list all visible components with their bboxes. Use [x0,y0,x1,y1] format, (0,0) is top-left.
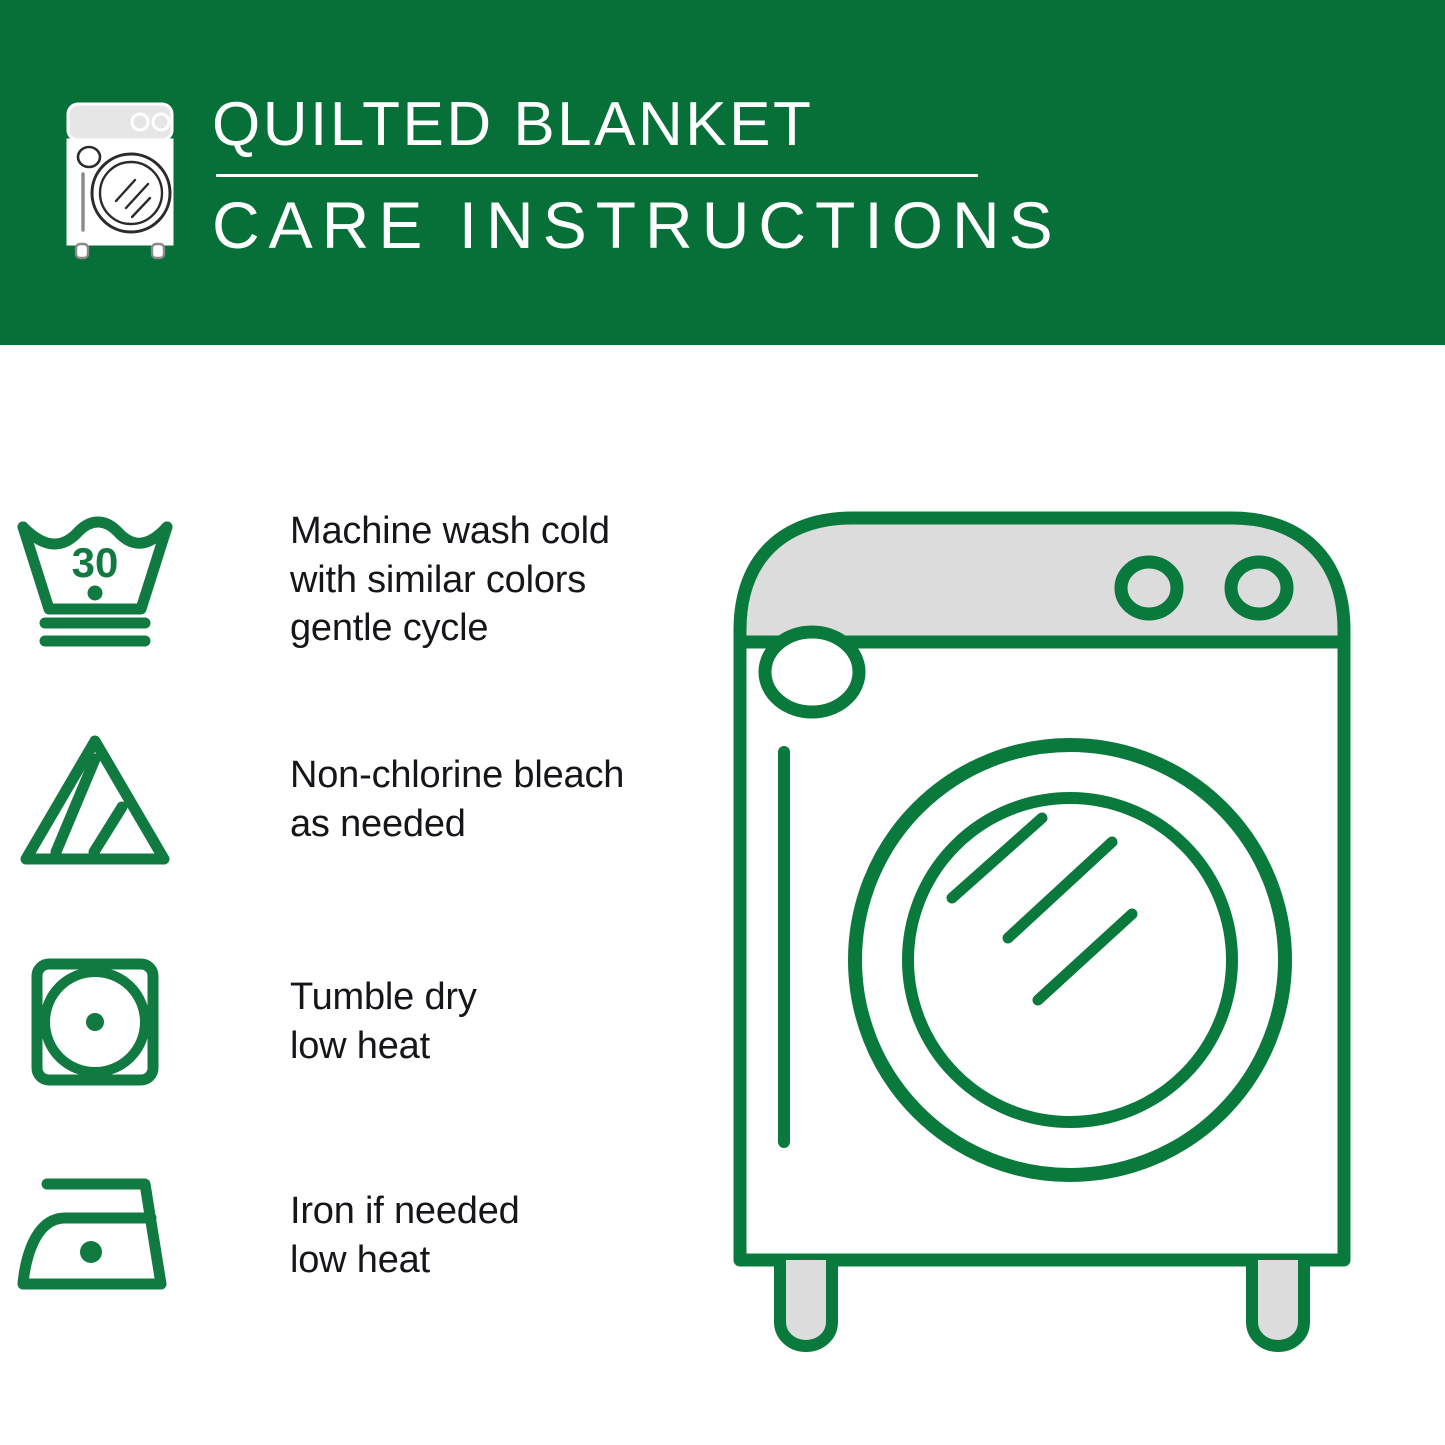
care-text-line: Machine wash cold [290,507,610,556]
care-text-line: as needed [290,800,624,849]
washing-machine-illustration [712,470,1372,1370]
care-text-line: low heat [290,1022,477,1071]
header-banner: QUILTED BLANKET CARE INSTRUCTIONS [0,0,1445,345]
care-row-iron: Iron if needed low heat [0,1146,700,1326]
care-text-bleach: Non-chlorine bleach as needed [290,751,624,848]
care-row-bleach: Non-chlorine bleach as needed [0,710,700,890]
non-chlorine-bleach-triangle-icon [0,725,190,875]
care-text-line: Non-chlorine bleach [290,751,624,800]
care-text-line: Tumble dry [290,973,477,1022]
page-title-line-1: QUILTED BLANKET [212,92,813,157]
care-text-machine-wash: Machine wash cold with similar colors ge… [290,507,610,653]
care-text-line: gentle cycle [290,604,610,653]
washing-machine-icon [62,100,188,260]
care-text-line: low heat [290,1236,520,1285]
care-row-tumble-dry: Tumble dry low heat [0,932,700,1112]
title-divider [216,174,978,177]
detergent-port [765,632,859,712]
care-row-machine-wash: 30 Machine wash cold with similar colors… [0,490,700,670]
header-content: QUILTED BLANKET CARE INSTRUCTIONS [62,92,1062,260]
foot-left [780,1260,832,1346]
care-text-tumble-dry: Tumble dry low heat [290,973,477,1070]
care-text-iron: Iron if needed low heat [290,1187,520,1284]
wash-temperature-value: 30 [72,539,119,586]
page-title-line-2: CARE INSTRUCTIONS [212,191,1062,260]
door-inner-ring [908,798,1232,1122]
knob-right [1231,562,1287,614]
tumble-dry-low-heat-icon [0,947,190,1097]
door-outer-ring [855,745,1285,1175]
shine-lines [952,818,1132,1000]
care-text-line: Iron if needed [290,1187,520,1236]
knob-left [1121,562,1177,614]
foot-right [1252,1260,1304,1346]
iron-low-heat-icon [0,1166,190,1306]
care-instructions-poster: QUILTED BLANKET CARE INSTRUCTIONS 30 [0,0,1445,1445]
title-block: QUILTED BLANKET CARE INSTRUCTIONS [212,92,1062,260]
wash-tub-30-gentle-icon: 30 [0,505,190,655]
care-text-line: with similar colors [290,556,610,605]
